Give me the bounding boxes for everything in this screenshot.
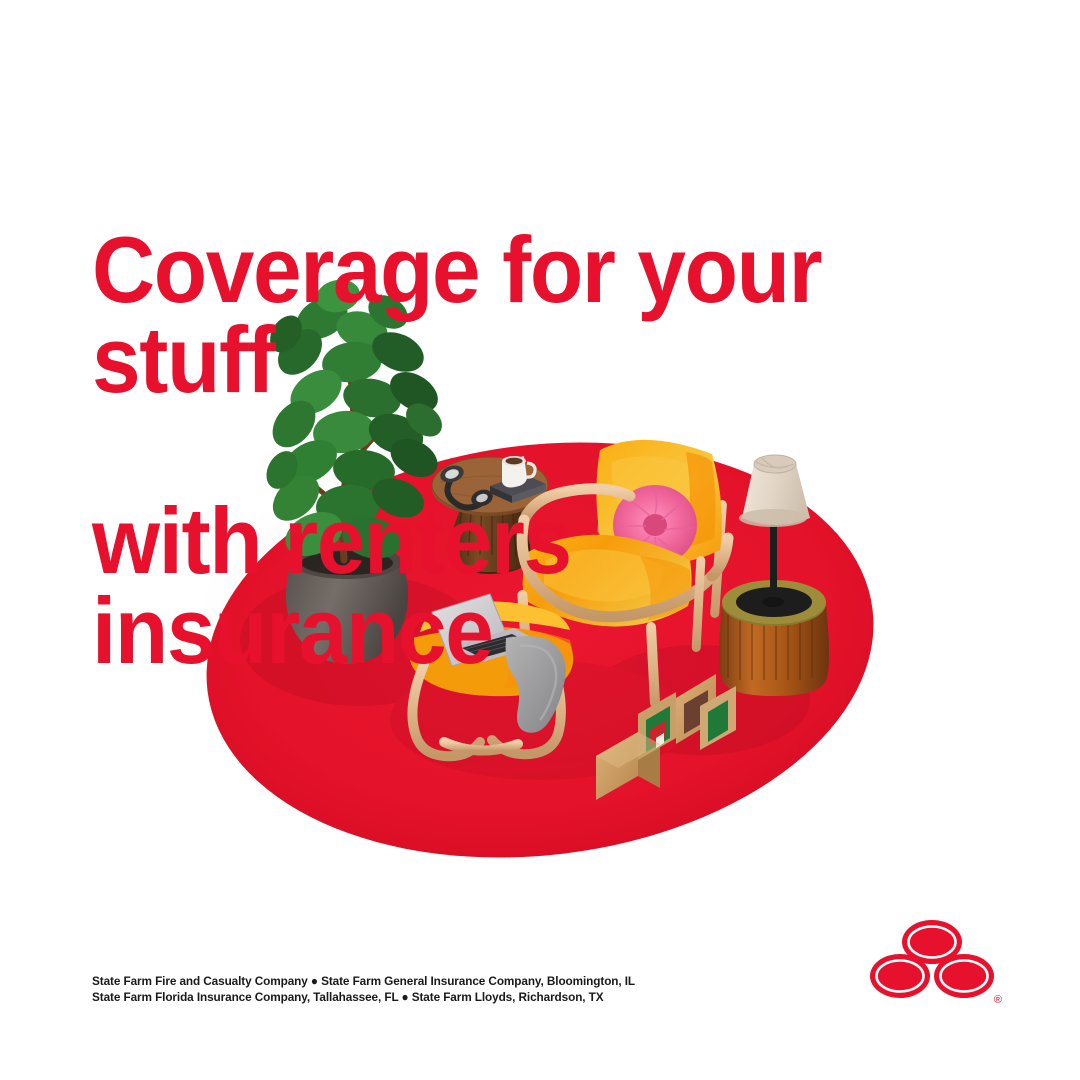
- legal-disclaimer: State Farm Fire and Casualty Company ● S…: [92, 974, 635, 1005]
- state-farm-three-ovals-logo: ®: [862, 912, 1002, 1012]
- logo-ovals: [870, 920, 994, 998]
- disclaimer-line-1: State Farm Fire and Casualty Company ● S…: [92, 974, 635, 990]
- page-title: Coverage for your stuff with renters ins…: [92, 135, 929, 767]
- headline-line-1: Coverage for your stuff: [92, 225, 929, 405]
- registered-trademark-symbol: ®: [994, 995, 1002, 1006]
- disclaimer-line-2: State Farm Florida Insurance Company, Ta…: [92, 990, 635, 1006]
- ad-canvas: Coverage for your stuff with renters ins…: [0, 0, 1080, 1080]
- headline-line-2: with renters insurance: [92, 496, 929, 676]
